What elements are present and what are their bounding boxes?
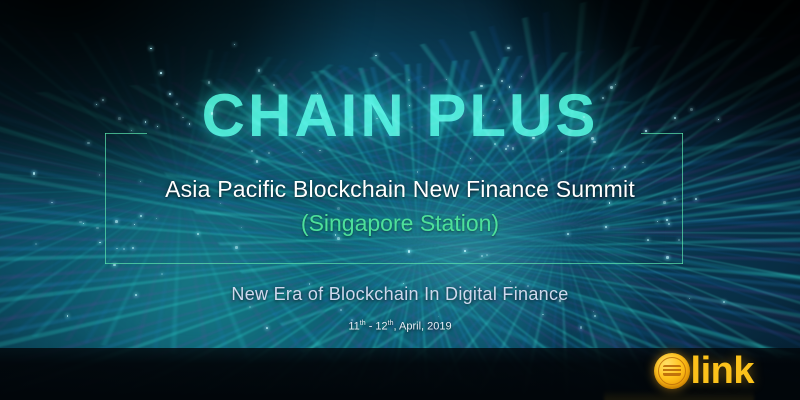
- link-logo[interactable]: link: [654, 352, 754, 390]
- gold-coin-icon: [654, 353, 690, 389]
- event-subtitle: Asia Pacific Blockchain New Finance Summ…: [0, 176, 800, 203]
- banner-content: CHAIN PLUS Asia Pacific Blockchain New F…: [0, 0, 800, 400]
- event-station: (Singapore Station): [0, 210, 800, 237]
- event-title: CHAIN PLUS: [0, 86, 800, 146]
- date-day-end: 12: [375, 321, 387, 333]
- date-separator: -: [366, 321, 376, 333]
- event-tagline: New Era of Blockchain In Digital Finance: [0, 284, 800, 305]
- event-banner: CHAIN PLUS Asia Pacific Blockchain New F…: [0, 0, 800, 400]
- date-month-year: , April, 2019: [394, 321, 452, 333]
- event-date: 11th - 12th, April, 2019: [0, 320, 800, 333]
- date-day-start: 11: [348, 321, 359, 333]
- logo-text: link: [691, 352, 754, 390]
